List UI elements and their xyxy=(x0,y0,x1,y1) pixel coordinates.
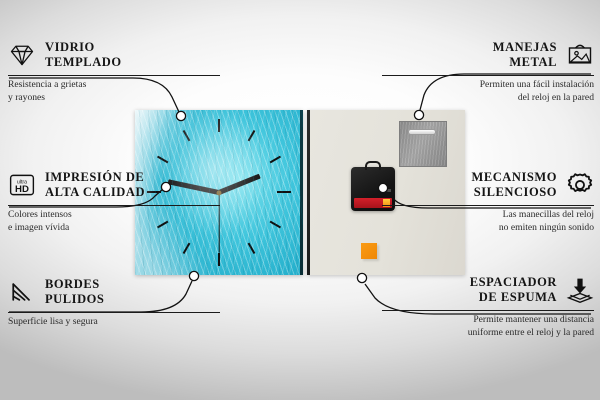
gear-icon xyxy=(566,171,594,199)
feature-description: Las manecillas del reloj no emiten ningú… xyxy=(382,209,594,234)
svg-text:HD: HD xyxy=(15,184,29,195)
hanger-slot xyxy=(408,129,436,135)
hour-marker xyxy=(218,119,220,132)
metal-hanger-plate xyxy=(399,121,447,167)
divider xyxy=(382,310,594,311)
foam-spacer-pad xyxy=(361,243,377,259)
clock-hand-hour xyxy=(218,174,261,195)
feature-title: VIDRIO TEMPLADO xyxy=(45,40,122,71)
diamond-icon xyxy=(8,41,36,69)
hour-marker xyxy=(277,191,291,193)
hour-marker xyxy=(157,156,168,164)
feature-title: BORDES PULIDOS xyxy=(45,277,104,308)
feature-header: ESPACIADOR DE ESPUMA xyxy=(382,273,594,307)
hour-marker xyxy=(183,130,191,141)
divider xyxy=(8,312,220,313)
polished-edges-icon xyxy=(8,278,36,306)
feature-description: Colores intensos e imagen vívida xyxy=(8,209,220,234)
feature-header: BORDES PULIDOS xyxy=(8,275,220,309)
hour-marker xyxy=(270,221,281,229)
feature-title: MANEJAS METAL xyxy=(493,40,557,71)
ultra-hd-icon: ultra HD xyxy=(8,171,36,199)
divider xyxy=(8,205,220,206)
divider xyxy=(382,75,594,76)
product-infographic: VIDRIO TEMPLADO Resistencia a grietas y … xyxy=(0,0,600,400)
feature-title: MECANISMO SILENCIOSO xyxy=(471,170,557,201)
feature-espaciador-de-espuma: ESPACIADOR DE ESPUMA Permite mantener un… xyxy=(382,273,594,339)
feature-title: IMPRESIÓN DE ALTA CALIDAD xyxy=(45,170,145,201)
feature-header: ultra HD IMPRESIÓN DE ALTA CALIDAD xyxy=(8,168,220,202)
feature-description: Resistencia a grietas y rayones xyxy=(8,79,220,104)
feature-impresion-alta-calidad: ultra HD IMPRESIÓN DE ALTA CALIDAD Color… xyxy=(8,168,220,234)
feature-description: Permite mantener una distancia uniforme … xyxy=(382,314,594,339)
foam-spacer-icon xyxy=(566,276,594,304)
divider xyxy=(382,205,594,206)
hour-marker xyxy=(218,253,220,266)
feature-header: MECANISMO SILENCIOSO xyxy=(382,168,594,202)
hour-marker xyxy=(270,156,281,164)
back-panel-edge xyxy=(307,110,310,275)
feature-header: MANEJAS METAL xyxy=(382,38,594,72)
hour-marker xyxy=(248,243,256,254)
clock-face-edge xyxy=(300,110,303,275)
feature-vidrio-templado: VIDRIO TEMPLADO Resistencia a grietas y … xyxy=(8,38,220,104)
feature-header: VIDRIO TEMPLADO xyxy=(8,38,220,72)
feature-description: Superficie lisa y segura xyxy=(8,316,220,329)
hour-marker xyxy=(183,243,191,254)
feature-bordes-pulidos: BORDES PULIDOS Superficie lisa y segura xyxy=(8,275,220,329)
feature-description: Permiten una fácil instalación del reloj… xyxy=(382,79,594,104)
divider xyxy=(8,75,220,76)
feature-title: ESPACIADOR DE ESPUMA xyxy=(470,275,557,306)
feature-mecanismo-silencioso: MECANISMO SILENCIOSO Las manecillas del … xyxy=(382,168,594,234)
hour-marker xyxy=(248,130,256,141)
wall-hanger-icon xyxy=(566,41,594,69)
mechanism-hanging-loop xyxy=(365,161,381,170)
feature-manejas-metal: MANEJAS METAL Permiten una fácil instala… xyxy=(382,38,594,104)
